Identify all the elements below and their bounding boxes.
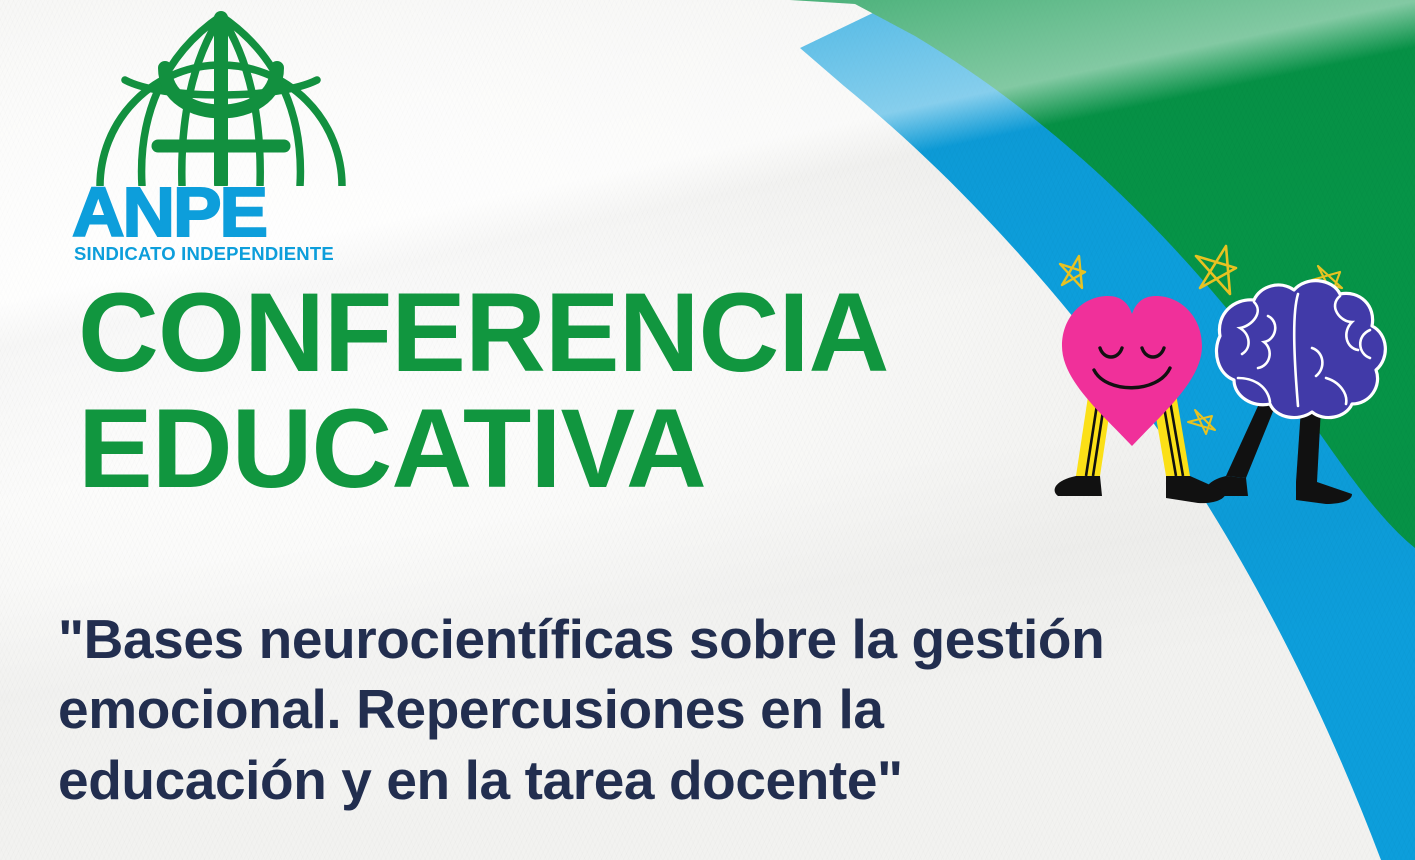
subtitle-line-3: educación y en la tarea docente": [58, 745, 1328, 815]
anpe-logo: ANPE SINDICATO INDEPENDIENTE: [66, 8, 366, 265]
anpe-tagline: SINDICATO INDEPENDIENTE: [74, 243, 366, 265]
page-title: CONFERENCIA EDUCATIVA: [78, 278, 1078, 504]
walking-brain-icon: [1216, 281, 1385, 418]
sketch-star-icon: [1196, 246, 1236, 294]
headline-line-1: CONFERENCIA: [78, 278, 1078, 388]
conference-subtitle: "Bases neurocientíficas sobre la gestión…: [58, 604, 1328, 815]
subtitle-line-1: "Bases neurocientíficas sobre la gestión: [58, 604, 1328, 674]
sketch-star-icon: [1060, 256, 1085, 288]
headline-line-2: EDUCATIVA: [78, 394, 1078, 504]
sketch-star-icon: [1188, 410, 1215, 434]
heart-and-brain-illustration: [1040, 238, 1390, 530]
anpe-wordmark: ANPE: [72, 182, 378, 242]
conference-poster: ANPE SINDICATO INDEPENDIENTE CONFERENCIA…: [0, 0, 1415, 860]
globe-figure-icon: [92, 8, 350, 186]
subtitle-line-2: emocional. Repercusiones en la: [58, 674, 1328, 744]
